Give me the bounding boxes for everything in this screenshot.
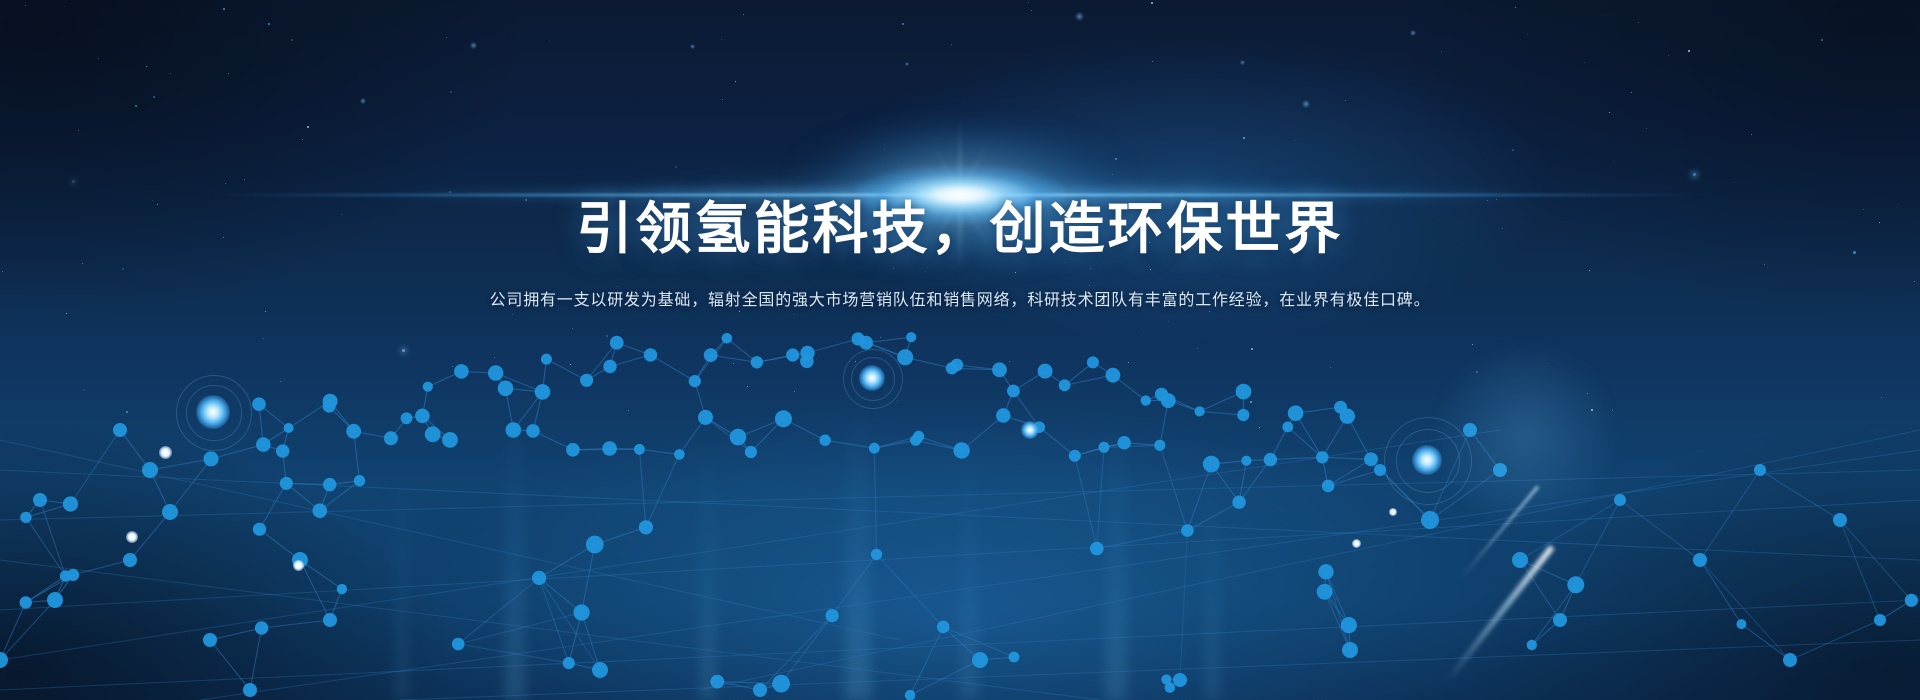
mesh-long-lines xyxy=(0,430,1920,700)
network-mesh xyxy=(0,0,1920,700)
page-title: 引领氢能科技，创造环保世界 xyxy=(0,196,1920,262)
hero-banner: 引领氢能科技，创造环保世界 公司拥有一支以研发为基础，辐射全国的强大市场营销队伍… xyxy=(0,0,1920,700)
hero-text-block: 引领氢能科技，创造环保世界 公司拥有一支以研发为基础，辐射全国的强大市场营销队伍… xyxy=(0,196,1920,314)
page-subtitle: 公司拥有一支以研发为基础，辐射全国的强大市场营销队伍和销售网络，科研技术团队有丰… xyxy=(0,288,1920,314)
mesh-lines xyxy=(0,337,1911,695)
